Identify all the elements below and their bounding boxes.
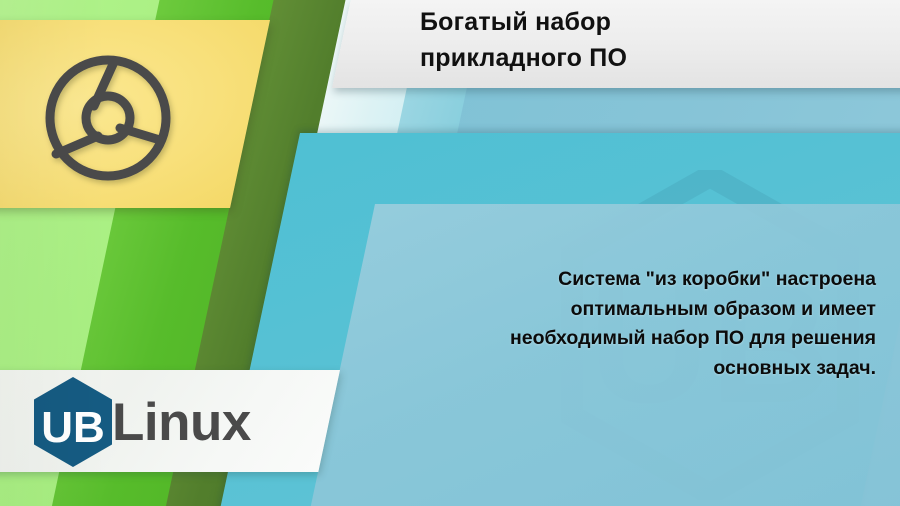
brand-logo: UB Linux — [32, 376, 251, 468]
hexagon-mark-label: UB — [41, 403, 105, 452]
body-line-3: необходимый набор ПО для решения — [406, 324, 876, 354]
logo-wordmark: Linux — [112, 396, 251, 449]
page-title: Богатый набор прикладного ПО — [420, 5, 880, 76]
slide-canvas: UB Богатый набор прикладного ПО Система … — [0, 0, 900, 506]
body-line-2: оптимальным образом и имеет — [406, 295, 876, 325]
body-line-4: основных задач. — [406, 354, 876, 384]
body-line-1: Система "из коробки" настроена — [406, 265, 876, 295]
hexagon-icon: UB — [32, 376, 114, 468]
aperture-icon — [42, 44, 174, 192]
title-line-2: прикладного ПО — [420, 41, 880, 77]
body-paragraph: Система "из коробки" настроена оптимальн… — [406, 265, 876, 384]
title-line-1: Богатый набор — [420, 5, 880, 41]
